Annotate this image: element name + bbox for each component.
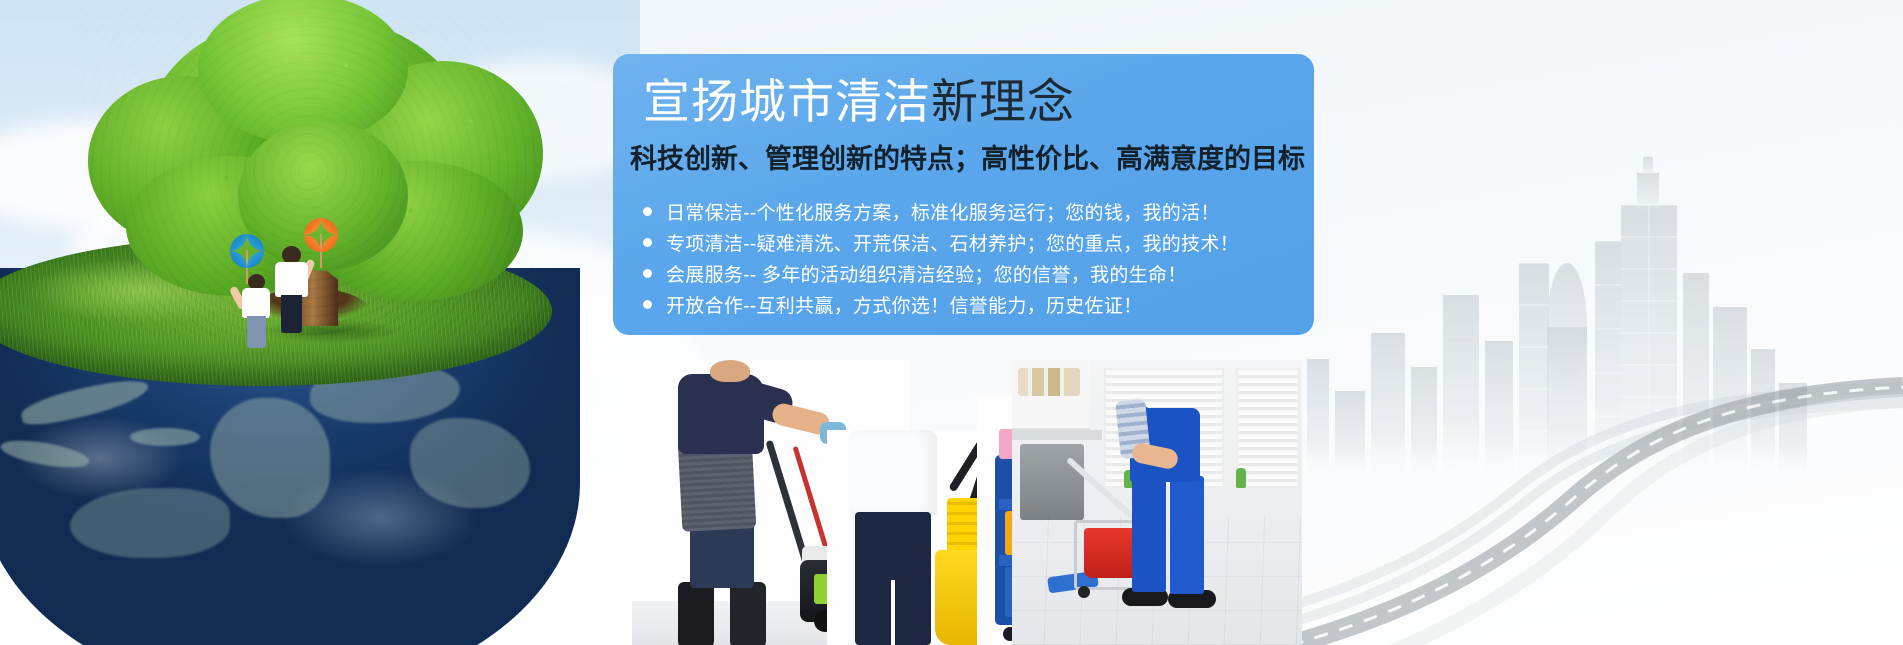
worker-boot (678, 582, 714, 645)
child-legs (281, 295, 302, 333)
pinwheel-blue-icon (230, 234, 264, 268)
feature-bullet-list: 日常保洁--个性化服务方案，标准化服务运行；您的钱，我的活！ 专项清洁--疑难清… (643, 196, 1343, 320)
cart-wheel (1078, 586, 1090, 598)
bullet-text: 专项清洁--疑难清洗、开荒保洁、石材养护；您的重点，我的技术！ (666, 229, 1239, 256)
list-item: 日常保洁--个性化服务方案，标准化服务运行；您的钱，我的活！ (643, 196, 1343, 227)
child-boy-figure (270, 246, 314, 332)
child-shirt (242, 288, 270, 318)
landmass-shape (130, 428, 200, 446)
bullet-dot-icon (643, 300, 652, 309)
child-legs (247, 316, 266, 348)
panel-title-highlight: 宣扬城市清洁 (643, 75, 931, 128)
worker-boot (730, 582, 766, 645)
child-shirt (275, 262, 308, 297)
list-item: 专项清洁--疑难清洗、开荒保洁、石材养护；您的重点，我的技术！ (643, 227, 1343, 258)
pinwheel-blade (230, 234, 247, 251)
kitchen-oven (1020, 444, 1084, 520)
bullet-text: 日常保洁--个性化服务方案，标准化服务运行；您的钱，我的活！ (666, 198, 1220, 225)
promo-banner: 宣扬城市清洁新理念 科技创新、管理创新的特点；高性价比、高满意度的目标 日常保洁… (0, 0, 1903, 645)
pinwheel-blade (321, 218, 338, 235)
pinwheel-blade (304, 218, 321, 235)
landmass-shape (0, 435, 91, 472)
panel-title: 宣扬城市清洁新理念 (643, 78, 1075, 125)
bullet-dot-icon (643, 207, 652, 216)
bullet-dot-icon (643, 238, 652, 247)
photo-worker-mopping-kitchen (1012, 360, 1302, 645)
kitchen-jars (1018, 368, 1080, 396)
panel-subtitle: 科技创新、管理创新的特点；高性价比、高满意度的目标 (630, 146, 1305, 173)
landmass-shape (19, 375, 152, 429)
worker-leg-gap (891, 580, 895, 645)
worker-leg (1170, 476, 1204, 594)
pinwheel-blade (247, 251, 264, 268)
landmass-shape (210, 398, 330, 518)
worker-shirt (849, 430, 937, 516)
earth-tree-illustration (0, 268, 580, 645)
landmass-shape (410, 418, 530, 508)
pinwheel-blade (321, 235, 338, 252)
list-item: 会展服务-- 多年的活动组织清洁经验；您的信誉，我的生命！ (643, 258, 1343, 289)
pinwheel-blade (230, 251, 247, 268)
list-item: 开放合作--互利共赢，方式你选！信誉能力，历史佐证！ (643, 289, 1343, 320)
worker-head (710, 360, 750, 382)
panel-title-tail: 新理念 (931, 75, 1075, 128)
kitchen-counter (1012, 430, 1102, 440)
bullet-text: 开放合作--互利共赢，方式你选！信誉能力，历史佐证！ (666, 291, 1142, 318)
service-photo-strip (632, 355, 1322, 645)
bullet-text: 会展服务-- 多年的活动组织清洁经验；您的信誉，我的生命！ (666, 260, 1187, 287)
landmass-shape (70, 488, 230, 558)
bullet-dot-icon (643, 269, 652, 278)
scrubber-handle (765, 440, 809, 564)
worker-leg (1132, 476, 1166, 592)
pinwheel-blade (247, 234, 264, 251)
small-plant (1236, 468, 1246, 488)
